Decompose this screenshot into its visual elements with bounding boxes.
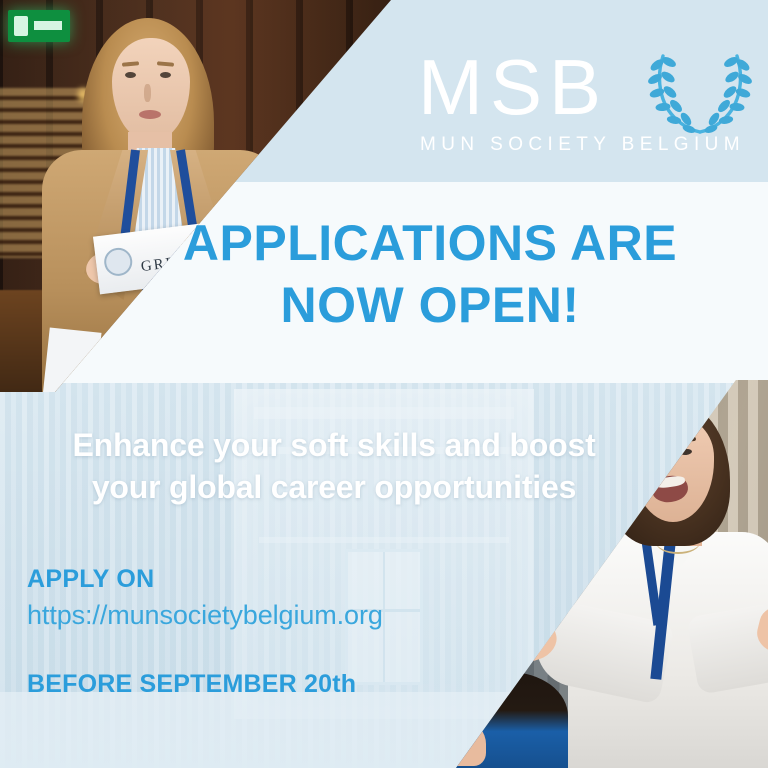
photo-person-nose — [144, 84, 151, 102]
page-title: APPLICATIONS ARE NOW OPEN! — [150, 212, 710, 336]
photo-person-mouth — [139, 110, 161, 119]
laurel-wreath-icon — [646, 52, 754, 136]
subheadline: Enhance your soft skills and boost your … — [44, 424, 624, 508]
poster-canvas: GREE MSB — [0, 0, 768, 768]
msb-logo: MSB — [418, 48, 756, 166]
deadline-label: BEFORE SEPTEMBER 20th — [27, 670, 356, 699]
logo-wordmark: MSB — [418, 48, 608, 126]
apply-url-link[interactable]: https://munsocietybelgium.org — [27, 600, 383, 631]
document-seal-icon — [103, 246, 134, 277]
exit-sign-icon — [8, 10, 70, 42]
photo-person-eye-left — [125, 72, 136, 78]
apply-on-label: APPLY ON — [27, 565, 154, 594]
logo-subtitle: MUN SOCIETY BELGIUM — [420, 134, 745, 156]
photo-person-eye-right — [160, 72, 171, 78]
